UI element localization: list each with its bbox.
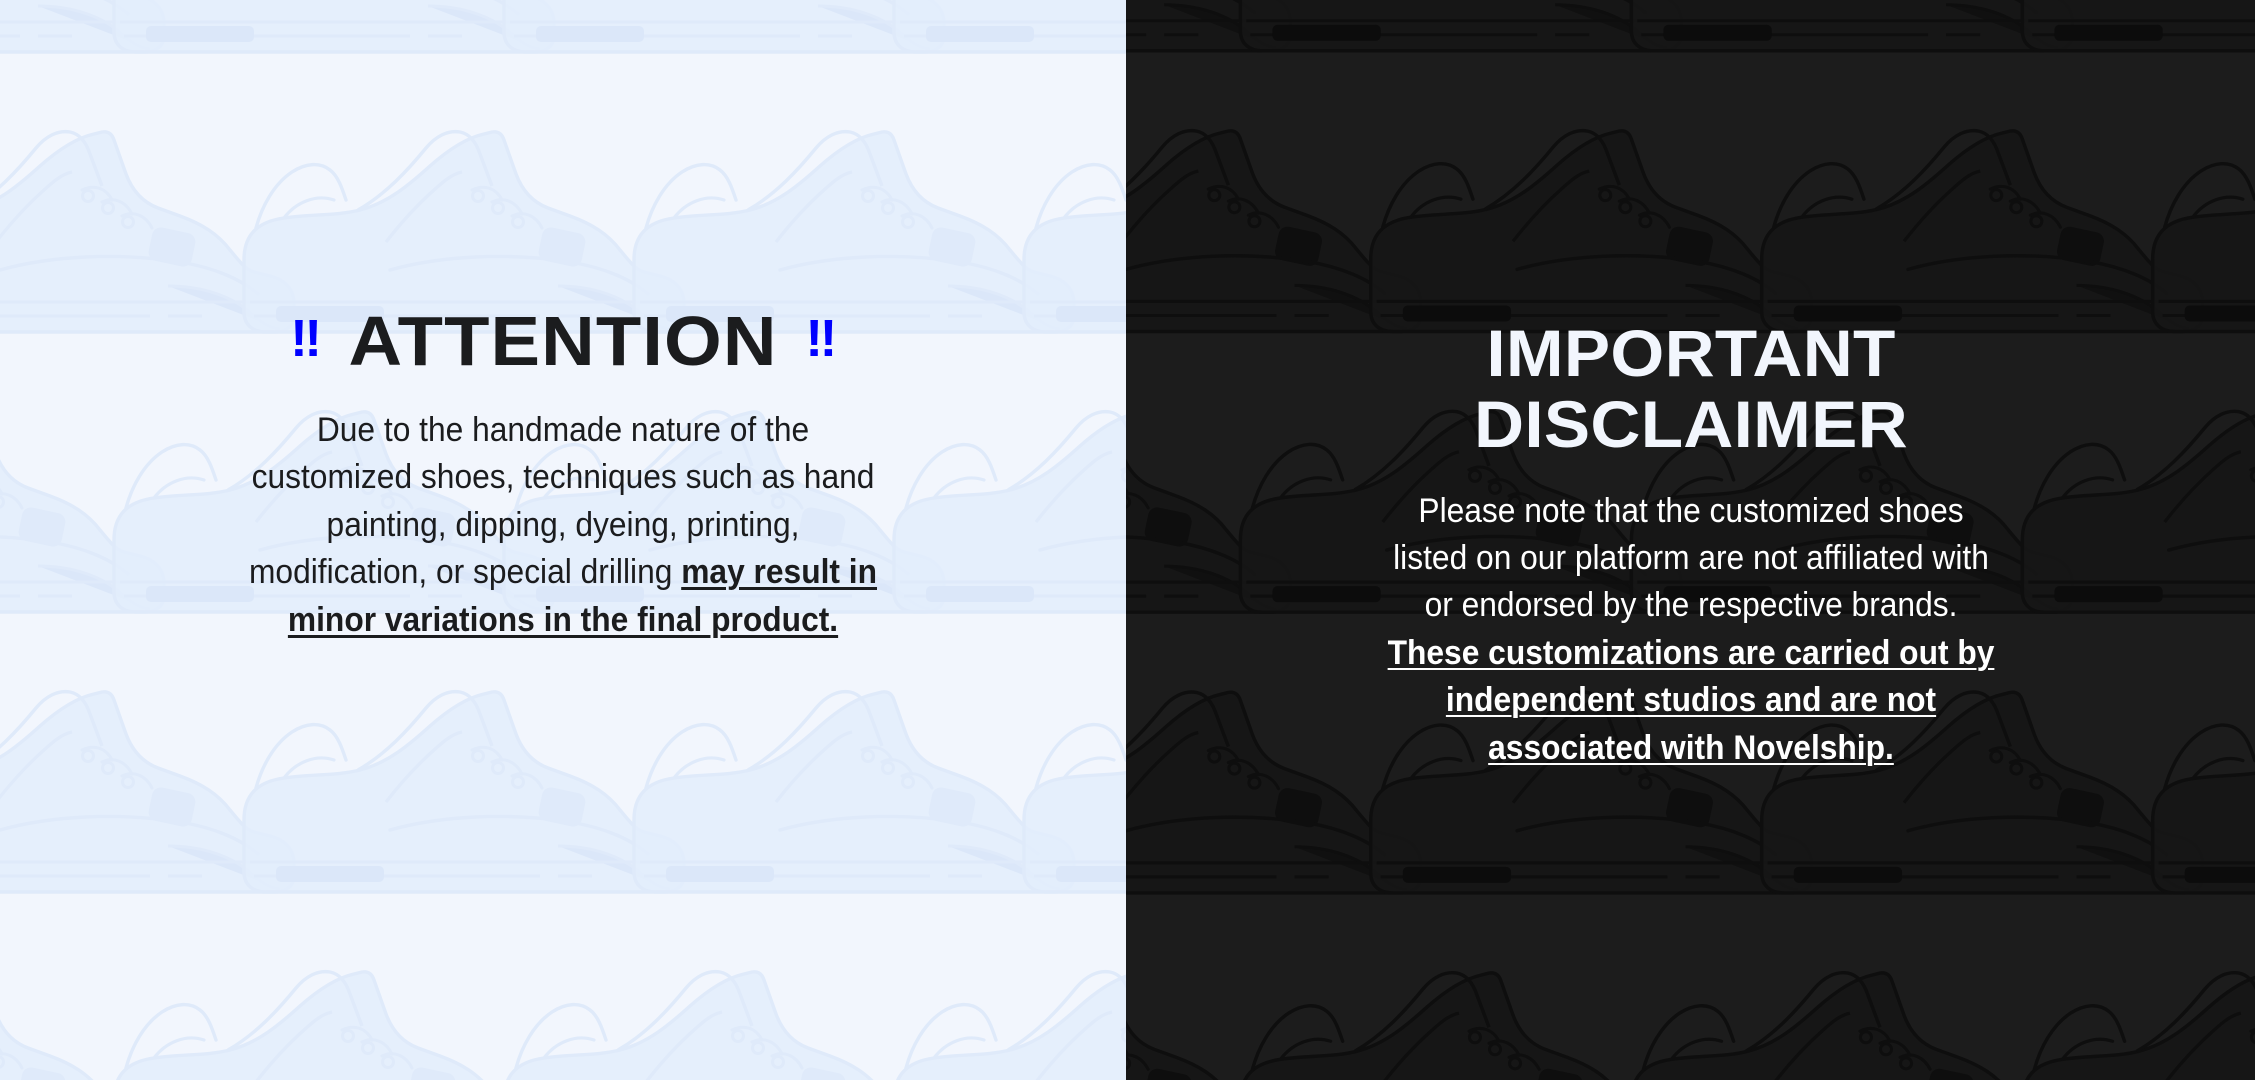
double-exclamation-icon-right: ‼ — [806, 313, 836, 365]
attention-heading: ‼ ATTENTION ‼ — [0, 306, 1126, 376]
disclaimer-heading: IMPORTANT DISCLAIMER — [1355, 318, 2027, 461]
disclaimer-body: Please note that the customized shoes li… — [1378, 488, 2004, 773]
disclaimer-body-emphasis: These customizations are carried out by … — [1387, 634, 1994, 767]
double-exclamation-icon-left: ‼ — [291, 313, 321, 365]
disclaimer-body-plain: Please note that the customized shoes li… — [1393, 492, 1989, 625]
disclaimer-banner: ‼ ATTENTION ‼ Due to the handmade nature… — [0, 0, 2255, 1080]
disclaimer-panel: IMPORTANT DISCLAIMER Please note that th… — [1126, 0, 2255, 1080]
disclaimer-content: IMPORTANT DISCLAIMER Please note that th… — [1126, 0, 2255, 772]
attention-content: ‼ ATTENTION ‼ Due to the handmade nature… — [0, 0, 1126, 644]
attention-body: Due to the handmade nature of the custom… — [241, 407, 885, 644]
attention-panel: ‼ ATTENTION ‼ Due to the handmade nature… — [0, 0, 1126, 1080]
attention-heading-text: ATTENTION — [348, 306, 777, 376]
